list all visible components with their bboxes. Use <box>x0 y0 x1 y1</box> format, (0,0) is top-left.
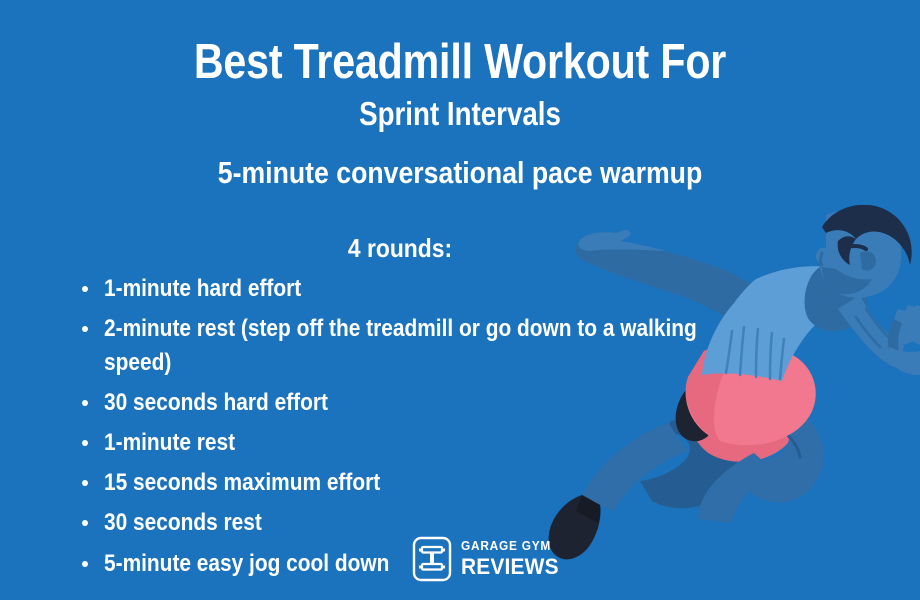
list-item-label: 5-minute easy jog cool down <box>104 547 716 581</box>
bullet-icon <box>82 326 88 332</box>
list-item-label: 15 seconds maximum effort <box>104 466 716 500</box>
logo-top-text: GARAGE GYM <box>461 540 559 553</box>
list-item: 2-minute rest (step off the treadmill or… <box>76 312 716 380</box>
list-item: 15 seconds maximum effort <box>76 466 716 500</box>
bullet-icon <box>82 400 88 406</box>
warmup-instruction: 5-minute conversational pace warmup <box>64 155 855 191</box>
poster-content: Best Treadmill Workout For Sprint Interv… <box>0 0 920 600</box>
workout-list: 1-minute hard effort 2-minute rest (step… <box>76 272 716 587</box>
page-subtitle: Sprint Intervals <box>74 96 847 132</box>
logo-bottom-text: REVIEWS <box>461 555 559 578</box>
list-item: 1-minute hard effort <box>76 272 716 306</box>
weight-bench-icon <box>412 536 452 582</box>
bullet-icon <box>82 440 88 446</box>
list-item: 30 seconds rest <box>76 506 716 540</box>
list-item-label: 2-minute rest (step off the treadmill or… <box>104 312 716 380</box>
list-item-label: 30 seconds hard effort <box>104 386 716 420</box>
rounds-heading: 4 rounds: <box>83 234 717 264</box>
page-title: Best Treadmill Workout For <box>74 36 847 89</box>
list-item-label: 1-minute hard effort <box>104 272 716 306</box>
bullet-icon <box>82 480 88 486</box>
bullet-icon <box>82 561 88 567</box>
title-block: Best Treadmill Workout For Sprint Interv… <box>0 36 920 132</box>
list-item: 1-minute rest <box>76 426 716 460</box>
workout-poster: Best Treadmill Workout For Sprint Interv… <box>0 0 920 600</box>
bullet-icon <box>82 520 88 526</box>
logo-wordmark: GARAGE GYM REVIEWS <box>461 540 564 578</box>
brand-logo: GARAGE GYM REVIEWS <box>412 536 564 582</box>
list-item: 5-minute easy jog cool down <box>76 547 716 581</box>
list-item-label: 30 seconds rest <box>104 506 716 540</box>
bullet-icon <box>82 286 88 292</box>
list-item: 30 seconds hard effort <box>76 386 716 420</box>
list-item-label: 1-minute rest <box>104 426 716 460</box>
